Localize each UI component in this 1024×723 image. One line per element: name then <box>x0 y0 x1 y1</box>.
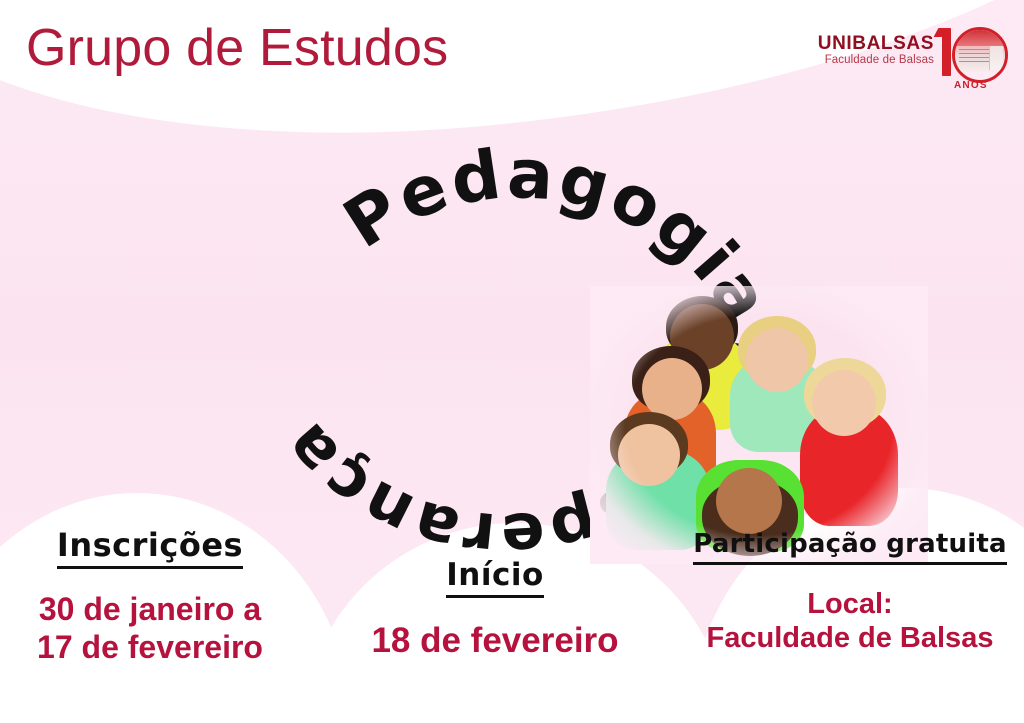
column-body-inicio: 18 de fevereiro <box>330 620 660 661</box>
anniversary-label: ANOS <box>954 80 988 91</box>
column-heading-participacao: Participação gratuita <box>693 530 1006 565</box>
column-participacao: Participação gratuita Local: Faculdade d… <box>676 530 1024 655</box>
child-head <box>812 370 876 436</box>
child-head <box>746 328 808 392</box>
children-circle-photo <box>604 300 914 550</box>
child-head <box>618 424 680 486</box>
building-icon <box>955 46 1005 72</box>
anniversary-10-anos-icon: ANOS <box>940 26 1006 98</box>
column-inicio: Início 18 de fevereiro <box>330 558 660 661</box>
child-head <box>642 358 702 420</box>
column-body-inscricoes: 30 de janeiro a 17 de fevereiro <box>0 591 300 667</box>
logo-name: UNIBALSAS <box>818 34 934 53</box>
anniversary-digit-one <box>942 28 951 76</box>
inicio-line-1: 18 de fevereiro <box>330 620 660 661</box>
child-head <box>716 468 782 534</box>
column-heading-inicio: Início <box>446 558 544 598</box>
participacao-line-2: Faculdade de Balsas <box>676 621 1024 655</box>
inscricoes-line-2: 17 de fevereiro <box>0 629 300 667</box>
circular-artwork: Pedagogia da Esperança <box>256 104 776 534</box>
participacao-line-1: Local: <box>676 587 1024 621</box>
building-sky <box>955 30 1005 47</box>
page-title: Grupo de Estudos <box>26 22 448 74</box>
column-heading-inscricoes: Inscrições <box>57 528 243 569</box>
poster-canvas: Grupo de Estudos UNIBALSAS Faculdade de … <box>0 0 1024 723</box>
unibalsas-logo: UNIBALSAS Faculdade de Balsas ANOS <box>818 26 1006 98</box>
inscricoes-line-1: 30 de janeiro a <box>0 591 300 629</box>
logo-wordmark: UNIBALSAS Faculdade de Balsas <box>818 26 934 67</box>
logo-subtitle: Faculdade de Balsas <box>825 55 934 67</box>
anniversary-digit-zero-ring <box>952 27 1008 83</box>
column-body-participacao: Local: Faculdade de Balsas <box>676 587 1024 655</box>
column-inscricoes: Inscrições 30 de janeiro a 17 de feverei… <box>0 528 300 667</box>
